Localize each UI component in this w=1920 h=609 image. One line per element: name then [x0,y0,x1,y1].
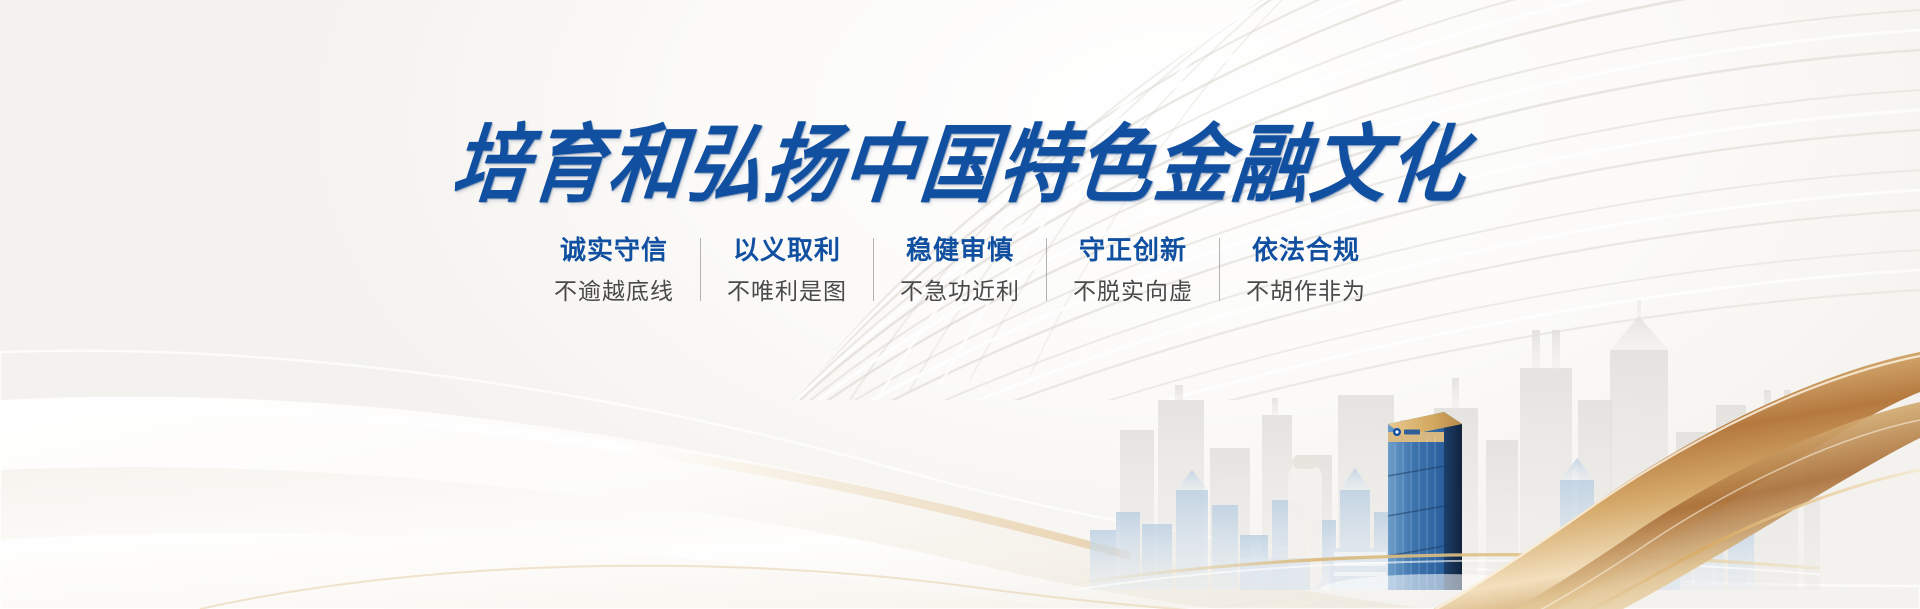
value-item-4: 守正创新 不脱实向虚 [1047,234,1219,307]
value-divider [1219,238,1220,301]
value-item-1: 诚实守信 不逾越底线 [528,234,700,307]
value-head: 稳健审慎 [906,234,1014,268]
value-head: 诚实守信 [560,234,668,268]
value-sub: 不逾越底线 [554,277,674,307]
value-head: 以义取利 [733,234,841,268]
value-head: 依法合规 [1252,234,1360,268]
value-sub: 不急功近利 [900,277,1020,307]
value-item-3: 稳健审慎 不急功近利 [874,234,1046,307]
value-sub: 不胡作非为 [1246,277,1366,307]
value-divider [873,238,874,301]
value-divider [1046,238,1047,301]
banner-content: 培育和弘扬中国特色金融文化 诚实守信 不逾越底线 以义取利 不唯利是图 稳健审慎… [0,0,1920,609]
value-list: 诚实守信 不逾越底线 以义取利 不唯利是图 稳健审慎 不急功近利 守正创新 不脱… [528,234,1392,307]
value-divider [700,238,701,301]
value-sub: 不唯利是图 [727,277,847,307]
value-sub: 不脱实向虚 [1073,277,1193,307]
value-item-2: 以义取利 不唯利是图 [701,234,873,307]
value-item-5: 依法合规 不胡作非为 [1220,234,1392,307]
value-head: 守正创新 [1079,234,1187,268]
page-title: 培育和弘扬中国特色金融文化 [448,117,1472,213]
banner: 培育和弘扬中国特色金融文化 诚实守信 不逾越底线 以义取利 不唯利是图 稳健审慎… [0,0,1920,609]
